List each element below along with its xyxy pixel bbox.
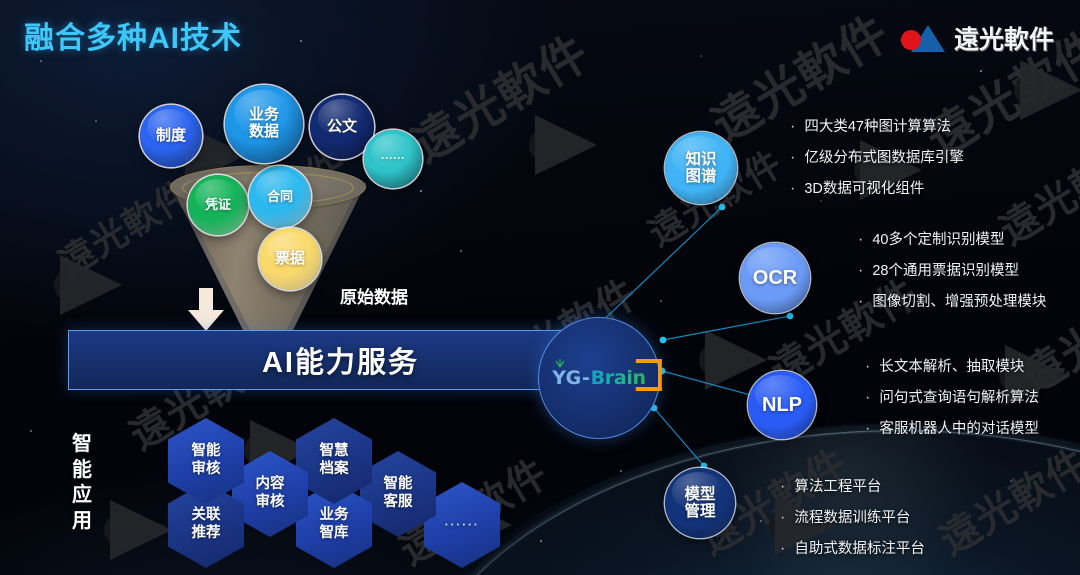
capability-node-label: 模型管理 — [684, 486, 715, 520]
bullet-item: ·自助式数据标注平台 — [780, 540, 925, 558]
capability-node-ocr[interactable]: OCR — [740, 243, 810, 313]
bullet-text: 图像切割、增强预处理模块 — [872, 293, 1046, 311]
intelligent-applications-label: 智能应用 — [72, 432, 102, 534]
bullet-item: ·长文本解析、抽取模块 — [865, 358, 1039, 376]
sphere-label: 合同 — [267, 190, 293, 205]
bullet-text: 亿级分布式图数据库引擎 — [804, 149, 964, 167]
bullet-item: ·流程数据训练平台 — [780, 509, 925, 527]
capability-node-label: 知识图谱 — [685, 151, 716, 185]
bullet-item: ·客服机器人中的对话模型 — [865, 420, 1039, 438]
data-source-sphere[interactable]: 制度 — [140, 105, 202, 167]
bullet-item: ·图像切割、增强预处理模块 — [858, 293, 1046, 311]
application-hex-label: 业务智库 — [320, 507, 349, 542]
yg-brain-node[interactable]: YG - Brain — [538, 317, 660, 439]
bullet-dot-icon: · — [858, 232, 863, 248]
application-hex-label: 智能审核 — [192, 443, 221, 478]
application-hex-label: 关联推荐 — [192, 507, 221, 542]
capability-node-knowledge-graph[interactable]: 知识图谱 — [665, 132, 737, 204]
data-source-sphere[interactable]: 业务数据 — [225, 85, 303, 163]
arrow-down-icon — [188, 288, 224, 332]
capability-node-model-management[interactable]: 模型管理 — [665, 468, 735, 538]
bullet-dot-icon: · — [780, 541, 785, 557]
app-label-char: 用 — [72, 509, 102, 535]
data-source-sphere[interactable]: ······ — [364, 130, 422, 188]
bullet-text: 自助式数据标注平台 — [794, 540, 925, 558]
bullet-item: ·28个通用票据识别模型 — [858, 262, 1046, 280]
company-name: 遠光軟件 — [954, 20, 1054, 56]
bullet-dot-icon: · — [780, 479, 785, 495]
page-title: 融合多种AI技术 — [24, 13, 242, 57]
app-label-char: 能 — [72, 458, 102, 484]
bullet-text: 3D数据可视化组件 — [804, 180, 924, 198]
data-source-sphere[interactable]: 合同 — [249, 166, 311, 228]
bullet-dot-icon: · — [790, 119, 795, 135]
bullet-item: ·40多个定制识别模型 — [858, 231, 1046, 249]
bullet-text: 四大类47种图计算算法 — [804, 118, 951, 136]
ai-capability-service-label: AI能力服务 — [262, 339, 419, 381]
bullet-dot-icon: · — [780, 510, 785, 526]
yg-brain-bracket — [636, 359, 662, 391]
bullet-dot-icon: · — [858, 263, 863, 279]
yg-brain-logo-icon: YG - Brain — [552, 367, 646, 389]
bullet-dot-icon: · — [858, 294, 863, 310]
bullet-item: ·3D数据可视化组件 — [790, 180, 964, 198]
capability-node-label: NLP — [762, 394, 802, 416]
bullet-text: 问句式查询语句解析算法 — [879, 389, 1039, 407]
bullet-dot-icon: · — [865, 359, 870, 375]
capability-bullets-model-management: ·算法工程平台·流程数据训练平台·自助式数据标注平台 — [780, 478, 925, 571]
yg-brain-dash: - — [582, 367, 590, 389]
company-logo: 遠光軟件 — [901, 20, 1054, 56]
sphere-label: 业务数据 — [249, 107, 279, 141]
bullet-item: ·亿级分布式图数据库引擎 — [790, 149, 964, 167]
bullet-text: 长文本解析、抽取模块 — [879, 358, 1024, 376]
bullet-dot-icon: · — [790, 181, 795, 197]
capability-bullets-knowledge-graph: ·四大类47种图计算算法·亿级分布式图数据库引擎·3D数据可视化组件 — [790, 118, 964, 211]
capability-bullets-nlp: ·长文本解析、抽取模块·问句式查询语句解析算法·客服机器人中的对话模型 — [865, 358, 1039, 451]
bullet-item: ·问句式查询语句解析算法 — [865, 389, 1039, 407]
sphere-label: 公文 — [327, 119, 357, 136]
sphere-label: 制度 — [156, 128, 186, 145]
application-hex-label: 智能客服 — [384, 476, 413, 511]
raw-data-label: 原始数据 — [340, 283, 408, 308]
yuanguang-triangle-circle-logo-icon — [901, 23, 947, 53]
bullet-text: 流程数据训练平台 — [794, 509, 910, 527]
bullet-text: 客服机器人中的对话模型 — [879, 420, 1039, 438]
bullet-dot-icon: · — [790, 150, 795, 166]
sphere-label: 票据 — [275, 251, 305, 268]
capability-bullets-ocr: ·40多个定制识别模型·28个通用票据识别模型·图像切割、增强预处理模块 — [858, 231, 1046, 324]
bullet-text: 40多个定制识别模型 — [872, 231, 1004, 249]
app-label-char: 应 — [72, 483, 102, 509]
data-source-sphere[interactable]: 票据 — [259, 228, 321, 290]
app-label-char: 智 — [72, 432, 102, 458]
application-hex-label: ······ — [445, 517, 480, 533]
bullet-item: ·四大类47种图计算算法 — [790, 118, 964, 136]
spark-icon — [554, 358, 566, 368]
bullet-dot-icon: · — [865, 421, 870, 437]
capability-node-label: OCR — [753, 267, 797, 289]
sphere-label: 凭证 — [205, 198, 231, 213]
yg-brain-yg-text: YG — [552, 367, 581, 389]
bullet-text: 28个通用票据识别模型 — [872, 262, 1019, 280]
data-source-sphere[interactable]: 凭证 — [188, 175, 248, 235]
bullet-text: 算法工程平台 — [794, 478, 881, 496]
sphere-label: ······ — [381, 152, 405, 165]
bullet-item: ·算法工程平台 — [780, 478, 925, 496]
capability-node-nlp[interactable]: NLP — [748, 371, 816, 439]
application-hex-label: 内容审核 — [256, 476, 285, 511]
application-hex-label: 智慧档案 — [320, 443, 349, 478]
bullet-dot-icon: · — [865, 390, 870, 406]
ai-capability-service-bar[interactable]: AI能力服务 — [68, 330, 613, 390]
